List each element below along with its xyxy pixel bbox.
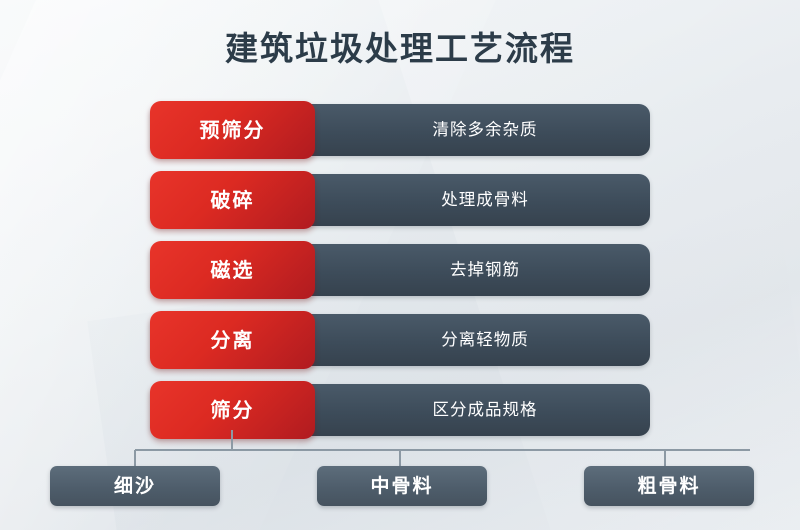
output-list: 细沙 中骨料 粗骨料 <box>50 466 754 506</box>
process-step-row: 清除多余杂质 预筛分 <box>150 104 650 156</box>
process-step-row: 分离轻物质 分离 <box>150 314 650 366</box>
process-step-stage[interactable]: 破碎 <box>150 171 315 229</box>
output-item[interactable]: 中骨料 <box>317 466 487 506</box>
process-step-list: 清除多余杂质 预筛分 处理成骨料 破碎 去掉钢筋 磁选 分离轻物质 分离 区分成… <box>150 104 650 454</box>
process-step-stage[interactable]: 预筛分 <box>150 101 315 159</box>
output-item[interactable]: 细沙 <box>50 466 220 506</box>
process-step-description: 分离轻物质 <box>320 314 650 366</box>
process-step-description: 清除多余杂质 <box>320 104 650 156</box>
output-item[interactable]: 粗骨料 <box>584 466 754 506</box>
process-step-stage[interactable]: 筛分 <box>150 381 315 439</box>
page-title: 建筑垃圾处理工艺流程 <box>0 22 800 70</box>
process-step-description: 去掉钢筋 <box>320 244 650 296</box>
process-step-row: 处理成骨料 破碎 <box>150 174 650 226</box>
process-step-stage[interactable]: 分离 <box>150 311 315 369</box>
process-step-stage[interactable]: 磁选 <box>150 241 315 299</box>
diagram-canvas: 建筑垃圾处理工艺流程 清除多余杂质 预筛分 处理成骨料 破碎 去掉钢筋 磁选 分… <box>0 0 800 530</box>
process-step-row: 去掉钢筋 磁选 <box>150 244 650 296</box>
process-step-description: 处理成骨料 <box>320 174 650 226</box>
process-step-row: 区分成品规格 筛分 <box>150 384 650 436</box>
process-step-description: 区分成品规格 <box>320 384 650 436</box>
